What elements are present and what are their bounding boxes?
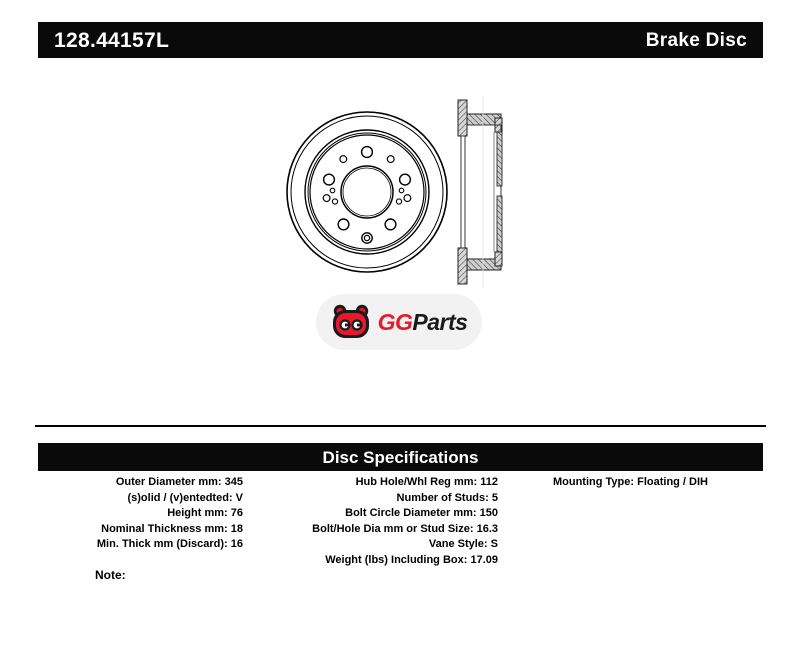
spec-row: (s)olid / (v)entedted: V [38, 491, 243, 507]
brand-name-secondary: Parts [412, 309, 467, 335]
product-drawing-area: GGParts [0, 72, 800, 412]
spec-value: S [491, 538, 498, 550]
brake-rotor-cross-section-view [452, 92, 514, 292]
spec-column-left: Outer Diameter mm: 345 (s)olid / (v)ente… [38, 475, 243, 568]
spec-row: Mounting Type: Floating / DIH [498, 475, 763, 491]
spec-label: (s)olid / (v)entedted: [127, 492, 232, 504]
specifications-table: Outer Diameter mm: 345 (s)olid / (v)ente… [38, 475, 763, 568]
brand-name-primary: GG [378, 309, 413, 335]
spec-value: 17.09 [470, 554, 498, 566]
brake-rotor-face-view [282, 102, 452, 282]
spec-row: Min. Thick mm (Discard): 16 [38, 537, 243, 553]
spec-value: 345 [225, 476, 243, 488]
spec-column-middle: Hub Hole/Whl Reg mm: 112 Number of Studs… [243, 475, 498, 568]
spec-value: 16 [231, 538, 243, 550]
specifications-title: Disc Specifications [323, 449, 479, 466]
spec-value: 16.3 [477, 523, 498, 535]
spec-row: Weight (lbs) Including Box: 17.09 [261, 553, 498, 569]
section-divider [35, 425, 766, 427]
spec-value: 18 [231, 523, 243, 535]
spec-label: Weight (lbs) Including Box: [325, 554, 467, 566]
spec-value: 150 [480, 507, 498, 519]
spec-row: Bolt/Hole Dia mm or Stud Size: 16.3 [261, 522, 498, 538]
spec-row: Height mm: 76 [38, 506, 243, 522]
ggparts-bear-mascot-icon [331, 303, 371, 341]
spec-row: Nominal Thickness mm: 18 [38, 522, 243, 538]
page-title: Brake Disc [646, 31, 747, 50]
spec-label: Number of Studs: [397, 492, 489, 504]
spec-row: Outer Diameter mm: 345 [38, 475, 243, 491]
note-label: Note: [95, 568, 126, 582]
spec-row: Vane Style: S [261, 537, 498, 553]
part-number: 128.44157L [54, 30, 169, 51]
specifications-header-bar: Disc Specifications [38, 443, 763, 471]
header-bar: 128.44157L Brake Disc [38, 22, 763, 58]
spec-label: Mounting Type: [553, 476, 634, 488]
spec-column-right: Mounting Type: Floating / DIH [498, 475, 763, 568]
spec-label: Bolt Circle Diameter mm: [345, 507, 476, 519]
spec-row: Hub Hole/Whl Reg mm: 112 [261, 475, 498, 491]
spec-label: Height mm: [167, 507, 228, 519]
spec-row: Number of Studs: 5 [261, 491, 498, 507]
spec-value: V [236, 492, 243, 504]
spec-row: Bolt Circle Diameter mm: 150 [261, 506, 498, 522]
spec-label: Bolt/Hole Dia mm or Stud Size: [312, 523, 473, 535]
spec-label: Vane Style: [429, 538, 488, 550]
spec-value: 76 [231, 507, 243, 519]
note-block: Note: [95, 568, 126, 582]
spec-value: 112 [480, 476, 498, 488]
spec-label: Outer Diameter mm: [116, 476, 222, 488]
spec-label: Min. Thick mm (Discard): [97, 538, 228, 550]
spec-label: Hub Hole/Whl Reg mm: [356, 476, 478, 488]
ggparts-watermark: GGParts [316, 294, 482, 350]
spec-value: Floating / DIH [637, 476, 708, 488]
spec-label: Nominal Thickness mm: [101, 523, 228, 535]
